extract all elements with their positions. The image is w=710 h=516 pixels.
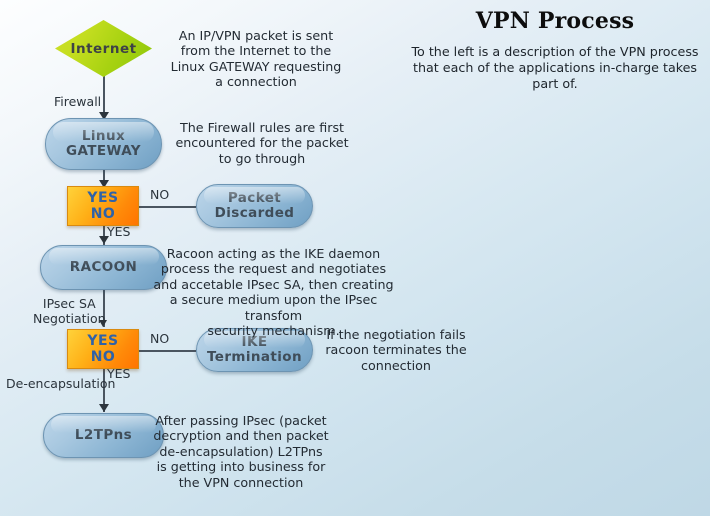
node-decision-ike-yes: YES — [87, 333, 118, 349]
node-decision-firewall[interactable]: YES NO — [67, 186, 139, 226]
node-internet[interactable]: Internet — [55, 20, 152, 77]
page-subtitle: To the left is a description of the VPN … — [400, 44, 710, 92]
node-linux-gateway-label: Linux GATEWAY — [66, 129, 141, 159]
edge-label-de-encapsulation: De-encapsulation — [6, 376, 115, 391]
description-internet: An IP/VPN packet is sent from the Intern… — [160, 28, 352, 90]
node-racoon-label: RACOON — [70, 260, 137, 275]
edge-label-decision1-no: NO — [150, 187, 169, 202]
node-packet-discarded-label: Packet Discarded — [215, 191, 295, 221]
edge-label-firewall: Firewall — [54, 94, 101, 109]
node-decision-firewall-no: NO — [91, 206, 116, 222]
vpn-process-diagram: VPN Process To the left is a description… — [0, 0, 710, 516]
node-internet-label: Internet — [70, 41, 136, 57]
node-packet-discarded[interactable]: Packet Discarded — [196, 184, 313, 228]
connector-internet-to-gateway — [103, 74, 105, 116]
page-title: VPN Process — [400, 8, 710, 34]
node-racoon[interactable]: RACOON — [40, 245, 167, 290]
description-ike-termination: If the negotiation fails racoon terminat… — [316, 327, 476, 373]
edge-label-ipsec-sa-negotiation: IPsec SA Negotiation — [33, 296, 106, 326]
node-decision-ike[interactable]: YES NO — [67, 329, 139, 369]
edge-label-decision1-yes: YES — [107, 224, 130, 239]
node-l2tpns-label: L2TPns — [75, 428, 132, 443]
node-decision-ike-no: NO — [91, 349, 116, 365]
description-l2tpns: After passing IPsec (packet decryption a… — [146, 413, 336, 490]
description-racoon: Racoon acting as the IKE daemon process … — [152, 246, 395, 339]
node-decision-firewall-yes: YES — [87, 190, 118, 206]
description-gateway: The Firewall rules are first encountered… — [166, 120, 358, 166]
node-ike-termination-label: IKE Termination — [207, 335, 302, 365]
connector-decision1-no — [139, 206, 196, 208]
connector-decision2-no — [139, 350, 196, 352]
node-linux-gateway[interactable]: Linux GATEWAY — [45, 118, 162, 170]
arrowhead-decision2-to-l2tpns — [99, 404, 109, 412]
